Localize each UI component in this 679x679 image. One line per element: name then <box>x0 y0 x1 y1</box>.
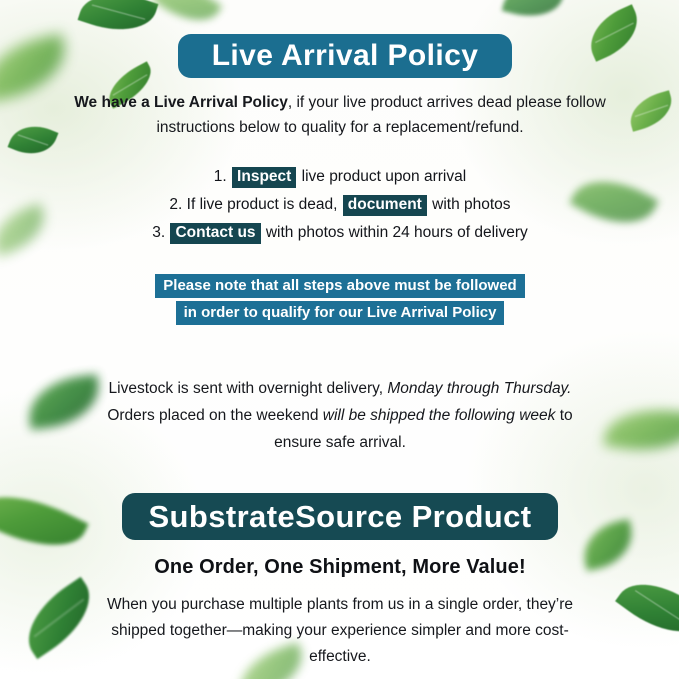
step-number: 2. <box>169 196 182 213</box>
step-highlight-document: document <box>343 195 427 216</box>
value-paragraph: When you purchase multiple plants from u… <box>85 592 595 670</box>
step-number: 1. <box>214 168 227 185</box>
banner-live-arrival-policy: Live Arrival Policy <box>178 34 512 78</box>
list-item: 1. Inspect live product upon arrival <box>90 163 590 191</box>
list-item: 3. Contact us with photos within 24 hour… <box>90 219 590 247</box>
note-line-1: Please note that all steps above must be… <box>155 274 524 298</box>
leaf-icon <box>615 566 679 651</box>
step-text-after: live product upon arrival <box>302 168 467 185</box>
note-line-2-wrap: in order to qualify for our Live Arrival… <box>90 299 590 326</box>
leaf-icon <box>625 90 677 132</box>
live-arrival-policy-infographic: Live Arrival Policy We have a Live Arriv… <box>0 0 679 679</box>
leaf-icon <box>0 477 89 566</box>
leaf-icon <box>8 117 59 162</box>
ship-line2-plain: Orders placed on the weekend <box>107 407 318 424</box>
value-headline: One Order, One Shipment, More Value! <box>90 556 590 579</box>
step-text-before: If live product is dead, <box>187 196 338 213</box>
leaf-icon <box>152 0 222 34</box>
intro-paragraph: We have a Live Arrival Policy, if your l… <box>70 90 610 140</box>
leaf-icon <box>502 0 565 24</box>
please-note-block: Please note that all steps above must be… <box>90 272 590 326</box>
leaf-icon <box>603 402 679 458</box>
ship-line1-plain: Livestock is sent with overnight deliver… <box>109 380 384 397</box>
policy-steps-list: 1. Inspect live product upon arrival 2. … <box>90 163 590 247</box>
leaf-icon <box>78 0 159 42</box>
step-number: 3. <box>152 224 165 241</box>
step-highlight-inspect: Inspect <box>232 167 296 188</box>
step-highlight-contact-us[interactable]: Contact us <box>170 223 260 244</box>
ship-line1-italic: Monday through Thursday. <box>387 380 571 397</box>
step-text-after: with photos within 24 hours of delivery <box>266 224 528 241</box>
step-text-after: with photos <box>432 196 510 213</box>
note-line-2: in order to qualify for our Live Arrival… <box>176 301 505 325</box>
intro-lead: We have a Live Arrival Policy <box>74 94 288 111</box>
ship-line2-italic: will be shipped the following week <box>323 407 556 424</box>
leaf-icon <box>0 203 52 257</box>
leaf-icon <box>581 4 648 61</box>
leaf-icon <box>0 34 72 103</box>
note-line-1-wrap: Please note that all steps above must be… <box>90 272 590 299</box>
list-item: 2. If live product is dead, document wit… <box>90 191 590 219</box>
shipping-schedule-paragraph: Livestock is sent with overnight deliver… <box>90 375 590 456</box>
banner-substratesource-product: SubstrateSource Product <box>122 493 558 540</box>
